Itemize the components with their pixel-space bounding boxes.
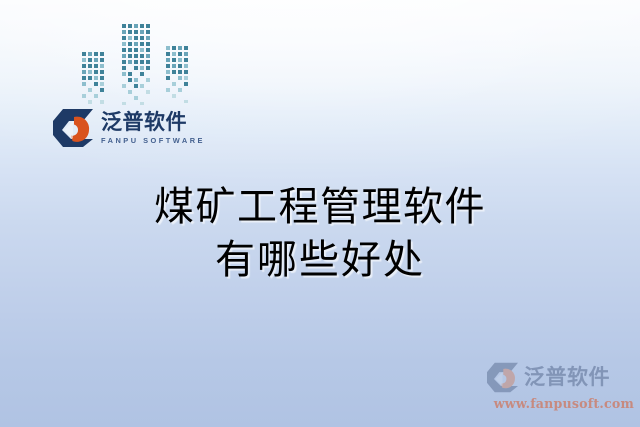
brand-name-cn: 泛普软件 <box>101 111 205 134</box>
watermark-logo-row: 泛普软件 <box>486 362 634 393</box>
watermark-brand-name-cn: 泛普软件 <box>524 367 610 388</box>
page-title-line-2: 有哪些好处 <box>0 234 640 287</box>
fanpu-hexagon-swoosh-logo-mark-icon <box>486 362 519 393</box>
page-title: 煤矿工程管理软件 有哪些好处 <box>0 181 640 287</box>
watermark: 泛普软件 www.fanpusoft.com <box>486 362 634 411</box>
pixelated-city-skyline-graphic <box>78 18 204 110</box>
slide-canvas: 泛普软件 FANPU SOFTWARE 煤矿工程管理软件 有哪些好处 泛普软件 … <box>0 0 640 427</box>
brand-name-en: FANPU SOFTWARE <box>101 137 205 144</box>
brand-logo: 泛普软件 FANPU SOFTWARE <box>52 108 205 148</box>
fanpu-hexagon-swoosh-logo-mark-icon <box>52 108 94 148</box>
brand-wordmark: 泛普软件 FANPU SOFTWARE <box>101 111 205 144</box>
page-title-line-1: 煤矿工程管理软件 <box>0 181 640 234</box>
watermark-url: www.fanpusoft.com <box>486 396 634 411</box>
